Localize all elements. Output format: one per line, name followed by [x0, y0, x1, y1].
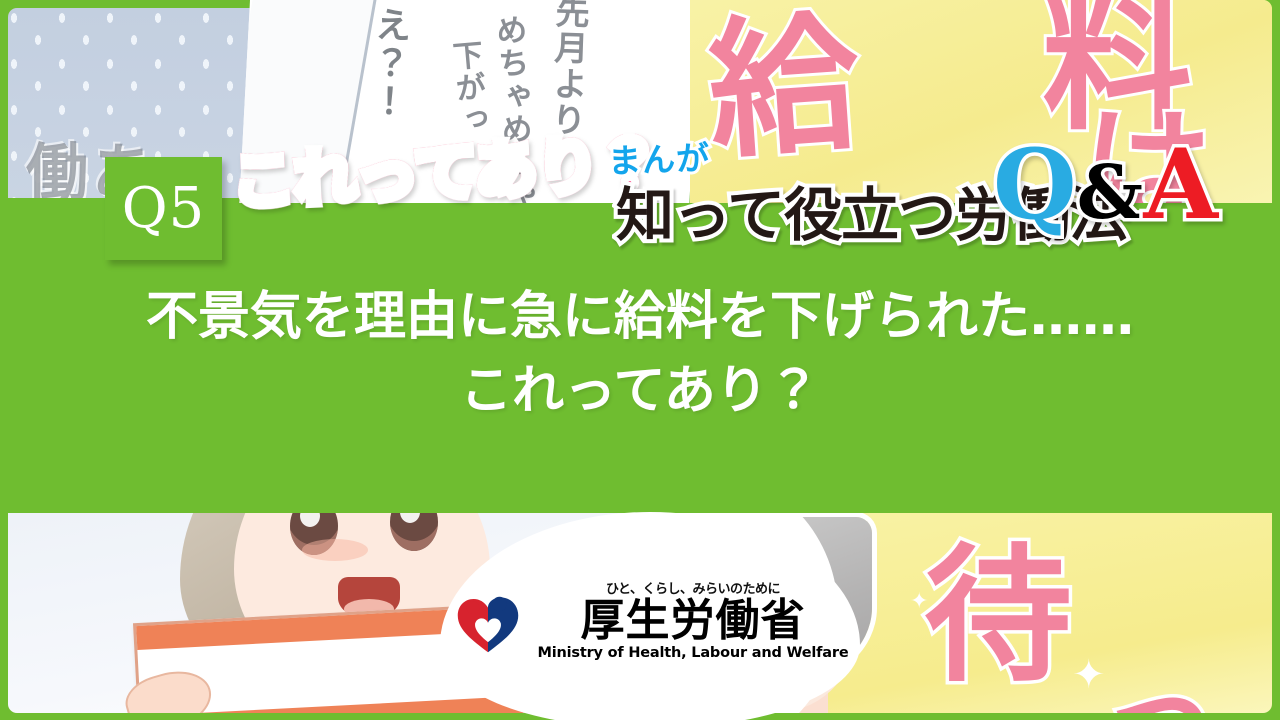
- headline-line-2: これってあり？: [0, 355, 1280, 429]
- page-title: 不景気を理由に急に給料を下げられた…… これってあり？: [0, 281, 1280, 429]
- series-title-logo: まんが 知って役立つ労働法 Q&A: [608, 133, 1198, 245]
- sparkle-icon: ✦: [1072, 655, 1106, 695]
- br-text-1: 待: [924, 513, 1072, 710]
- question-number-badge: Q5: [105, 157, 222, 260]
- mhlw-logo: ひと、くらし、みらいのために 厚生労働省 Ministry of Health,…: [452, 583, 849, 662]
- qa-logo-ampersand: &: [1077, 150, 1144, 236]
- speech-line-d: 下がっ: [447, 39, 487, 137]
- qa-logo-a: A: [1143, 128, 1217, 241]
- mhlw-heart-figures-icon: [452, 586, 524, 658]
- mhlw-text-block: ひと、くらし、みらいのために 厚生労働省 Ministry of Health,…: [538, 583, 849, 662]
- bl-character-blush: [302, 539, 368, 561]
- br-text-2: っ: [1100, 621, 1220, 713]
- mhlw-name-en: Ministry of Health, Labour and Welfare: [538, 645, 849, 662]
- qa-logo: Q&A: [993, 137, 1218, 233]
- headline-line-1: 不景気を理由に急に給料を下げられた……: [146, 287, 1134, 347]
- mhlw-name-ja: 厚生労働省: [580, 597, 805, 645]
- question-number-label: Q5: [122, 181, 206, 237]
- series-mark-logo: これってあり？: [231, 133, 662, 214]
- speech-line-b: 先月より: [546, 0, 587, 139]
- sparkle-small-icon: ✦: [910, 591, 928, 613]
- qa-logo-q: Q: [993, 128, 1077, 241]
- speech-line-a: え？！: [366, 5, 410, 121]
- poster-root: 働あ え？！ 先月より めちゃめちゃ 下がっ 給 料 は: [0, 0, 1280, 720]
